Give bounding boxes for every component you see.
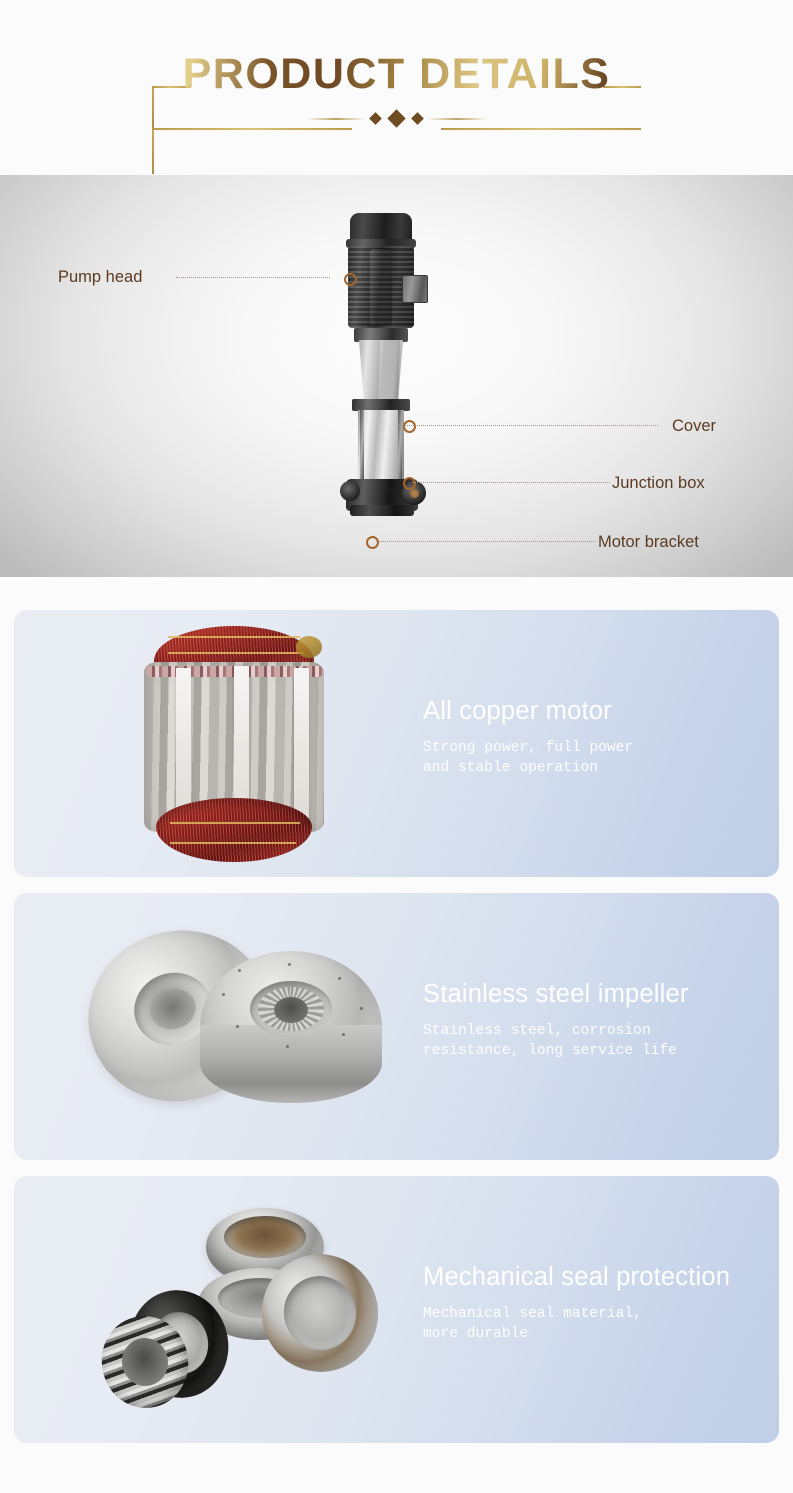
divider-line-left — [306, 118, 366, 120]
impeller-rivet — [342, 1033, 345, 1036]
feature-card-copper-motor[interactable]: All copper motor Strong power, full powe… — [14, 610, 779, 877]
card-text-block: Stainless steel impeller Stainless steel… — [423, 979, 768, 1061]
impeller-rivet — [360, 1007, 363, 1010]
leader-line-motor-bracket — [376, 541, 596, 543]
impeller-rivet — [338, 977, 341, 980]
diagram-label-cover: Cover — [672, 416, 716, 437]
page-header: PRODUCT DETAILS — [0, 0, 793, 175]
pump-pull-rod-right — [398, 410, 402, 482]
pump-bracket-flange — [354, 328, 408, 342]
pump-illustration — [326, 213, 438, 518]
stator-tie-bottom-2 — [170, 842, 296, 844]
pump-foot-plate — [350, 505, 414, 516]
diamond-center-icon — [387, 109, 405, 127]
diamond-divider — [0, 112, 793, 125]
page-title: PRODUCT DETAILS — [0, 48, 793, 100]
pump-junction-box-part — [402, 275, 428, 303]
impeller-rivet — [286, 1045, 289, 1048]
card-title: Mechanical seal protection — [423, 1262, 768, 1293]
pump-diagram-section: Pump head pull rod outlet base Cover Jun… — [0, 175, 793, 577]
card-title: Stainless steel impeller — [423, 979, 768, 1010]
diamond-left-icon — [369, 112, 382, 125]
pump-pull-rod-left — [360, 410, 364, 482]
frame-bottom-right-line — [441, 128, 641, 130]
feature-cards-section: All copper motor Strong power, full powe… — [0, 577, 793, 1493]
card-text-block: All copper motor Strong power, full powe… — [423, 696, 768, 778]
diagram-label-pump-head: Pump head — [58, 267, 142, 288]
pump-intake-bore — [410, 489, 419, 498]
feature-card-mechanical-seal[interactable]: Mechanical seal protection Mechanical se… — [14, 1176, 779, 1443]
diagram-label-motor-bracket: Motor bracket — [598, 532, 699, 553]
impeller-right-bore — [274, 997, 308, 1023]
leader-line-junction-box — [412, 482, 610, 484]
frame-bottom-left-line — [152, 128, 352, 130]
impeller-rivet — [238, 969, 241, 972]
impeller-rivet — [222, 993, 225, 996]
pump-outlet-port — [340, 481, 360, 501]
pump-motor-bracket-shading — [378, 340, 400, 402]
divider-line-right — [427, 118, 487, 120]
leader-line-pump-head — [176, 277, 330, 279]
seal-ring-top-bore — [224, 1216, 306, 1258]
stator-wire-knot — [296, 636, 322, 658]
card-description: Stainless steel, corrosion resistance, l… — [423, 1021, 768, 1061]
leader-line-cover — [398, 425, 658, 427]
card-title: All copper motor — [423, 696, 768, 727]
stator-tie-top-2 — [168, 652, 304, 654]
mechanical-seal-image — [102, 1206, 392, 1416]
stator-band-3 — [294, 668, 309, 826]
impeller-image — [88, 929, 384, 1129]
impeller-rivet — [288, 963, 291, 966]
motor-stator-image — [110, 622, 360, 870]
pump-motor-shading — [370, 249, 392, 325]
stator-tie-bottom-1 — [170, 822, 300, 824]
stator-tie-top-1 — [168, 636, 300, 638]
feature-card-stainless-impeller[interactable]: Stainless steel impeller Stainless steel… — [14, 893, 779, 1160]
card-description: Strong power, full power and stable oper… — [423, 738, 768, 778]
marker-pump-head — [344, 273, 357, 286]
card-description: Mechanical seal material, more durable — [423, 1304, 768, 1344]
stator-winding-bottom — [156, 798, 312, 862]
diagram-label-junction-box: Junction box — [612, 473, 705, 494]
diamond-right-icon — [411, 112, 424, 125]
card-text-block: Mechanical seal protection Mechanical se… — [423, 1262, 768, 1344]
frame-right-line — [152, 130, 154, 174]
impeller-rivet — [236, 1025, 239, 1028]
